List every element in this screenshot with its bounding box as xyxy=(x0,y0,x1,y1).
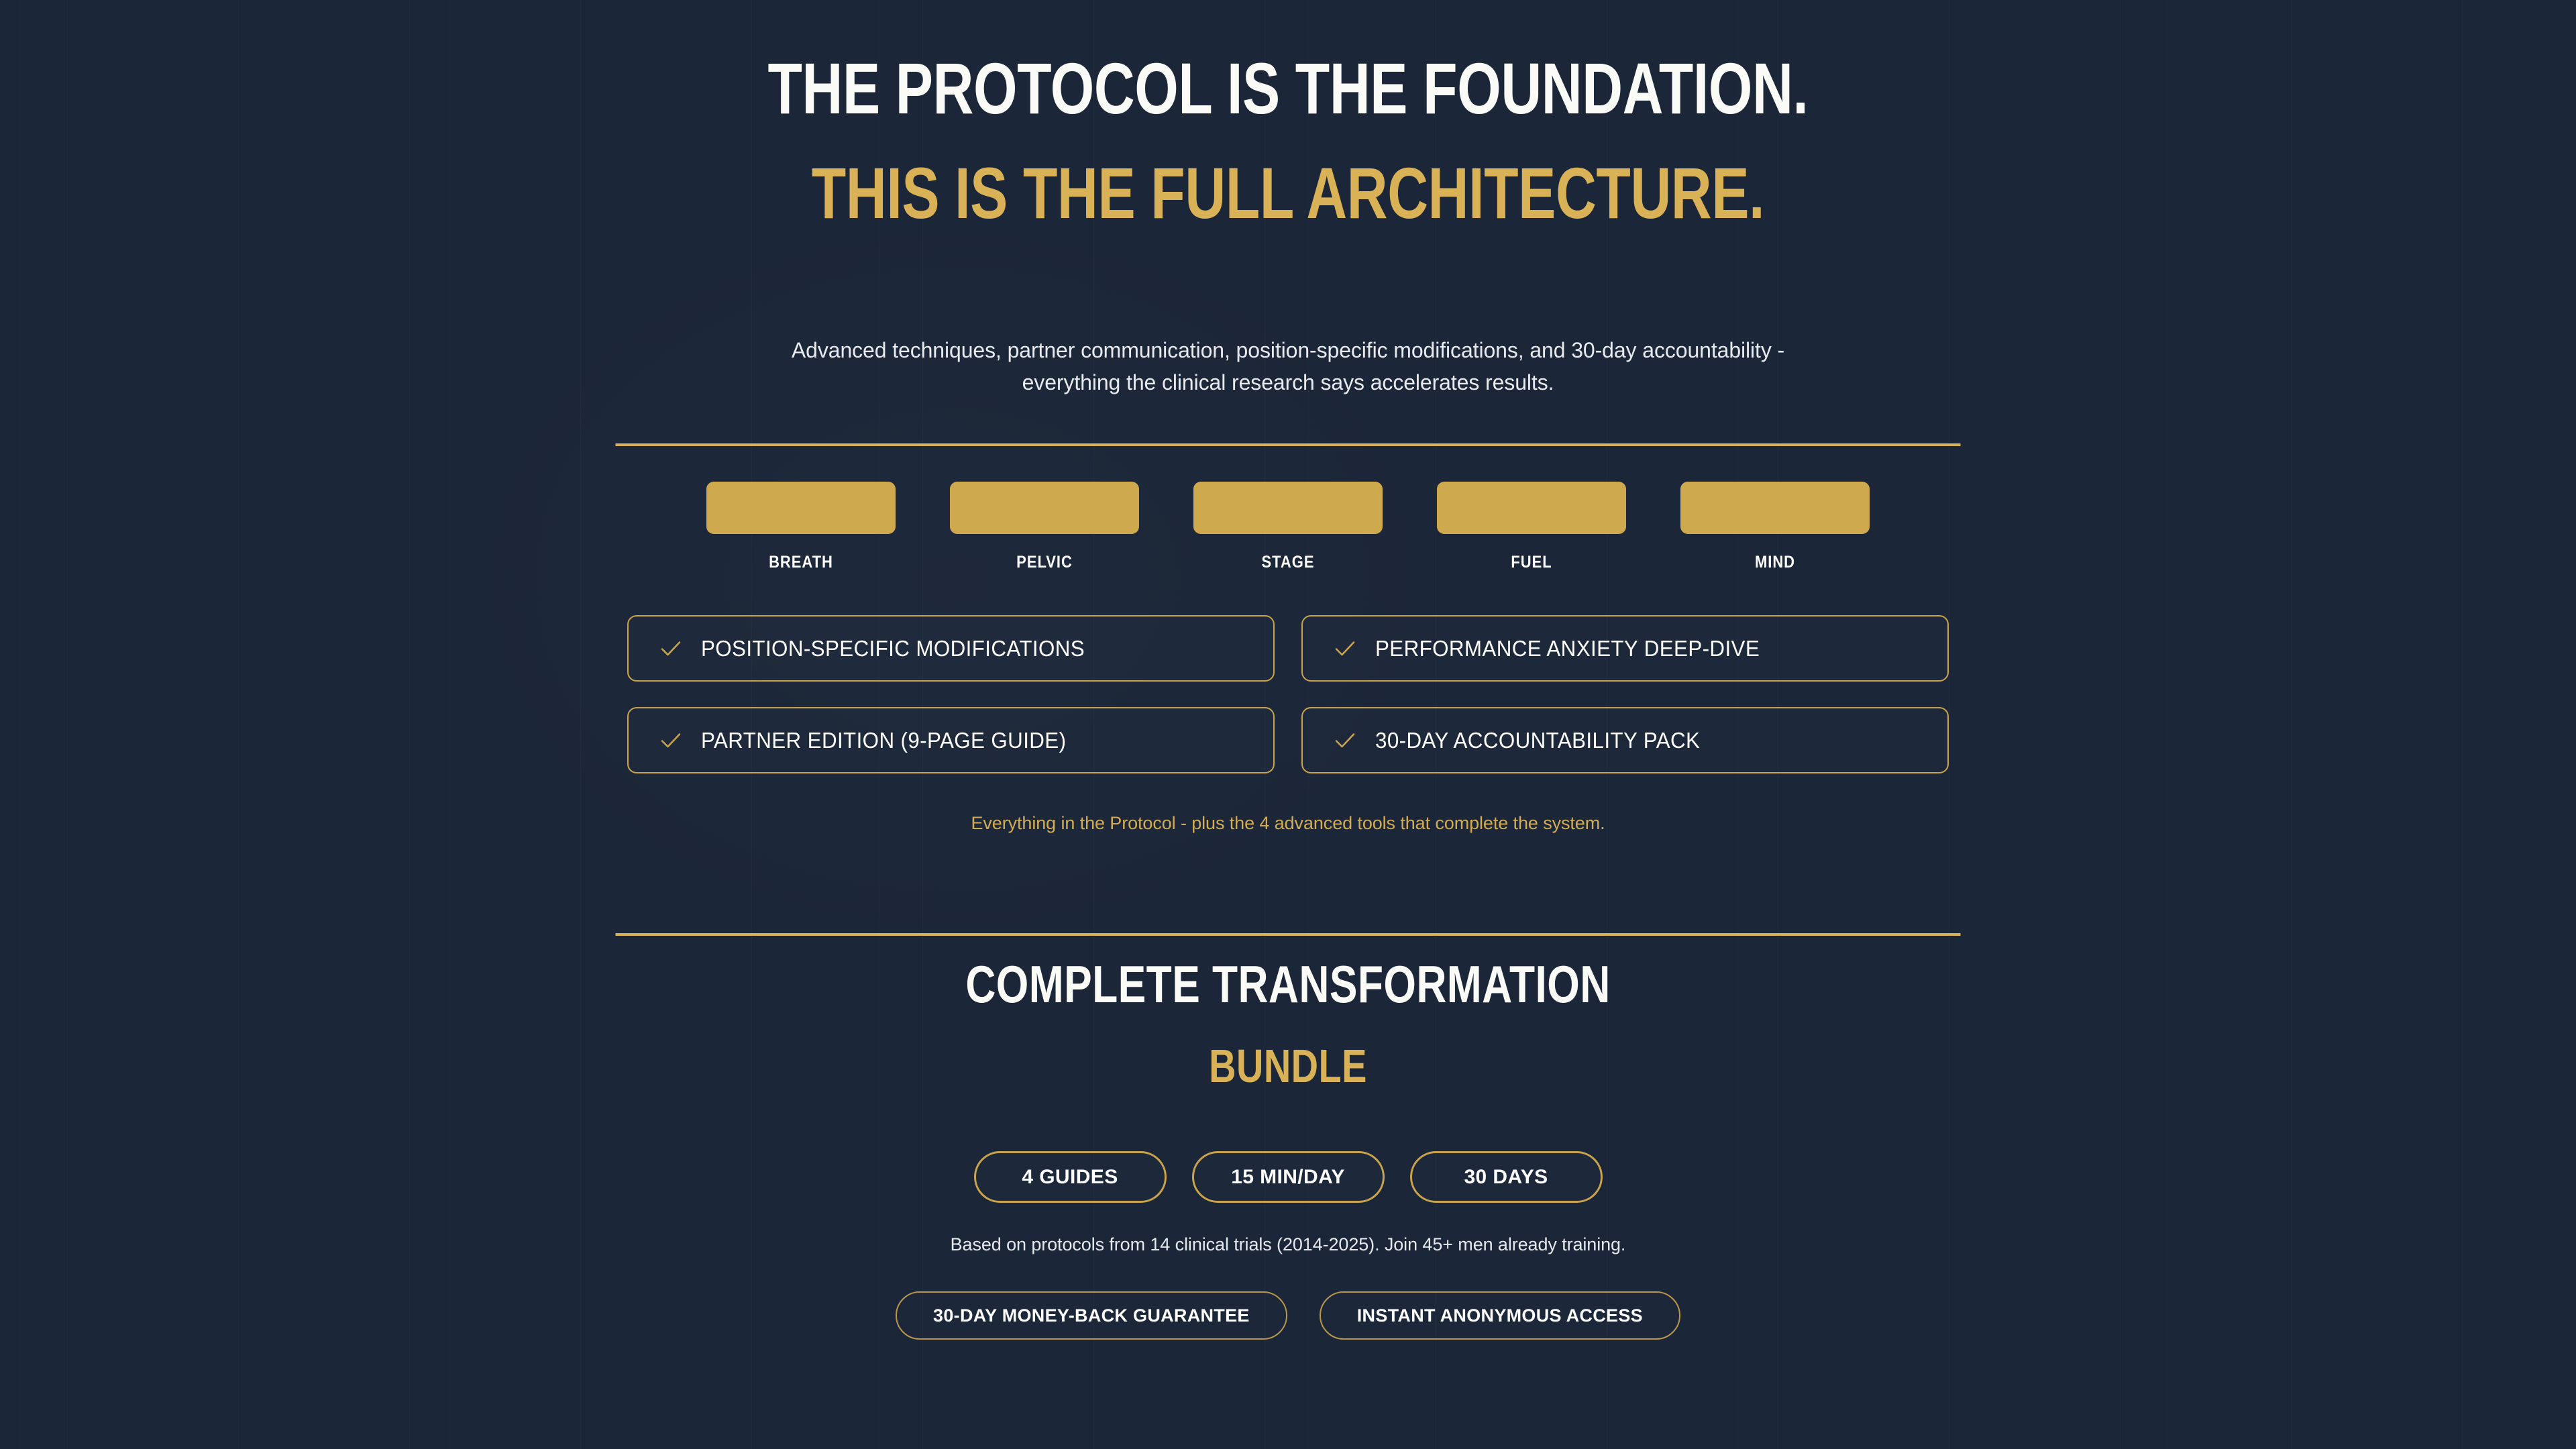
feature-card-position-specific-modifications[interactable]: POSITION-SPECIFIC MODIFICATIONS xyxy=(627,615,1275,682)
feature-card-partner-edition[interactable]: PARTNER EDITION (9-PAGE GUIDE) xyxy=(627,707,1275,773)
pillar-pelvic[interactable]: PELVIC xyxy=(950,482,1139,572)
pillar-label: MIND xyxy=(1692,553,1858,572)
pillar-swatch-icon xyxy=(1680,482,1870,534)
guarantee-pills-row: 30-DAY MONEY-BACK GUARANTEE INSTANT ANON… xyxy=(614,1291,1962,1340)
check-icon xyxy=(659,637,682,660)
bundle-title-line2: BUNDLE xyxy=(749,1042,1827,1089)
feature-card-label: 30-DAY ACCOUNTABILITY PACK xyxy=(1375,728,1700,753)
guarantee-pill-anonymous-access[interactable]: INSTANT ANONYMOUS ACCESS xyxy=(1320,1291,1680,1340)
hero-headline-line1: THE PROTOCOL IS THE FOUNDATION. xyxy=(762,52,1814,125)
divider-bottom xyxy=(616,933,1961,936)
pillars-row: BREATH PELVIC STAGE FUEL MIND xyxy=(614,482,1962,572)
check-icon xyxy=(1334,729,1356,752)
check-icon xyxy=(659,729,682,752)
stat-pill-min-day[interactable]: 15 MIN/DAY xyxy=(1192,1151,1385,1203)
feature-card-label: PERFORMANCE ANXIETY DEEP-DIVE xyxy=(1375,636,1760,661)
feature-cards-grid: POSITION-SPECIFIC MODIFICATIONS PERFORMA… xyxy=(614,615,1962,773)
trust-line-text: Based on protocols from 14 clinical tria… xyxy=(614,1234,1962,1255)
pillar-label: FUEL xyxy=(1448,553,1615,572)
feature-card-30-day-accountability-pack[interactable]: 30-DAY ACCOUNTABILITY PACK xyxy=(1301,707,1949,773)
bundle-title-block: COMPLETE TRANSFORMATION BUNDLE xyxy=(614,958,1962,1089)
divider-top xyxy=(616,443,1961,446)
pillar-swatch-icon xyxy=(950,482,1139,534)
pillar-label: STAGE xyxy=(1205,553,1371,572)
landing-page-section: THE PROTOCOL IS THE FOUNDATION. THIS IS … xyxy=(0,0,2576,1449)
hero-headline-line2: THIS IS THE FULL ARCHITECTURE. xyxy=(762,157,1814,229)
feature-card-label: PARTNER EDITION (9-PAGE GUIDE) xyxy=(701,728,1066,753)
hero-subcopy: Advanced techniques, partner communicati… xyxy=(614,334,1962,398)
hero-heading-block: THE PROTOCOL IS THE FOUNDATION. THIS IS … xyxy=(614,52,1962,229)
bundle-title-line1: COMPLETE TRANSFORMATION xyxy=(749,958,1827,1010)
pillar-fuel[interactable]: FUEL xyxy=(1437,482,1626,572)
pillar-mind[interactable]: MIND xyxy=(1680,482,1870,572)
pillar-swatch-icon xyxy=(1437,482,1626,534)
pillar-stage[interactable]: STAGE xyxy=(1193,482,1383,572)
stat-pill-days[interactable]: 30 DAYS xyxy=(1410,1151,1603,1203)
pillar-swatch-icon xyxy=(1193,482,1383,534)
hero-subcopy-line2: everything the clinical research says ac… xyxy=(614,366,1962,398)
pillar-label: BREATH xyxy=(718,553,884,572)
feature-card-label: POSITION-SPECIFIC MODIFICATIONS xyxy=(701,636,1085,661)
pillar-label: PELVIC xyxy=(961,553,1128,572)
stat-pills-row: 4 GUIDES 15 MIN/DAY 30 DAYS xyxy=(614,1151,1962,1203)
gold-note-text: Everything in the Protocol - plus the 4 … xyxy=(614,813,1962,834)
pillar-swatch-icon xyxy=(706,482,896,534)
guarantee-pill-money-back[interactable]: 30-DAY MONEY-BACK GUARANTEE xyxy=(896,1291,1287,1340)
stat-pill-guides[interactable]: 4 GUIDES xyxy=(974,1151,1167,1203)
check-icon xyxy=(1334,637,1356,660)
feature-card-performance-anxiety-deep-dive[interactable]: PERFORMANCE ANXIETY DEEP-DIVE xyxy=(1301,615,1949,682)
pillar-breath[interactable]: BREATH xyxy=(706,482,896,572)
hero-subcopy-line1: Advanced techniques, partner communicati… xyxy=(614,334,1962,366)
